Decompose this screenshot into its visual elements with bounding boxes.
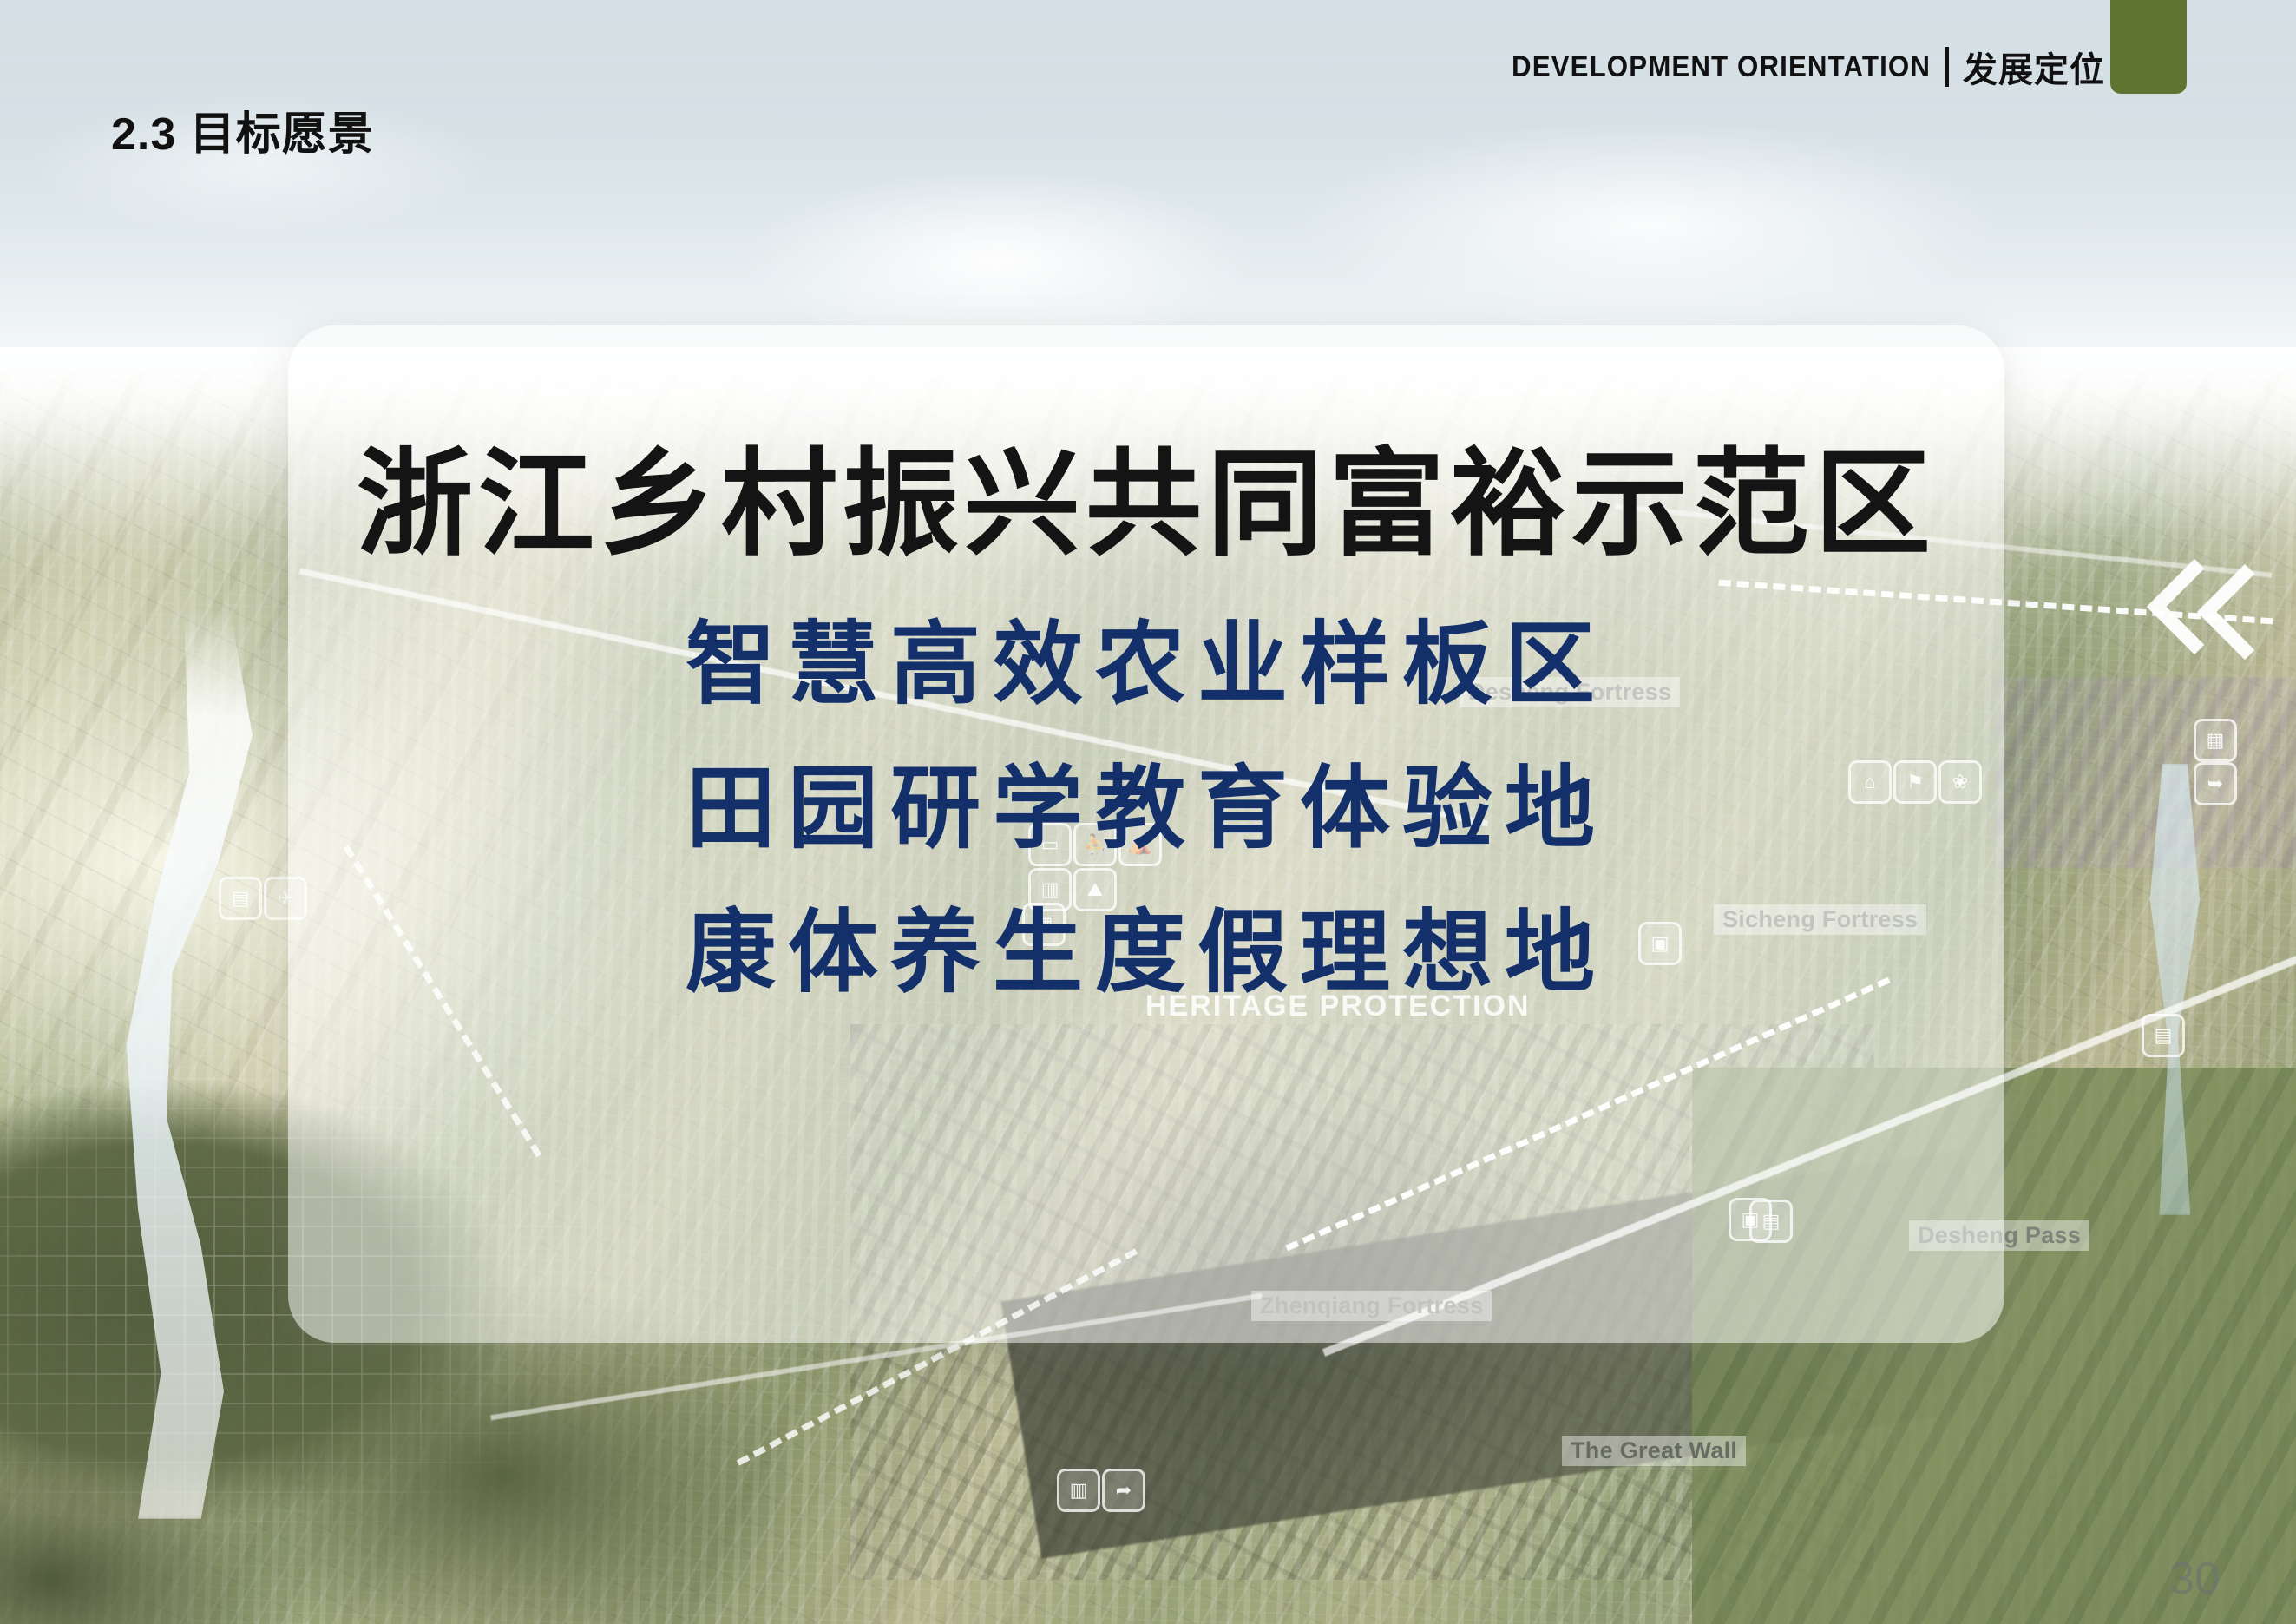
map-facility-icon: ▦	[2194, 719, 2237, 762]
map-facility-icon: ➦	[1102, 1469, 1145, 1512]
map-facility-icon: ▤	[219, 877, 262, 920]
eyebrow-chinese-label: 发展定位	[1963, 42, 2105, 92]
vision-card-content: 浙江乡村振兴共同富裕示范区 智慧高效农业样板区 田园研学教育体验地 康体养生度假…	[288, 325, 2004, 1343]
vision-subtitle-2: 田园研学教育体验地	[686, 765, 1607, 855]
page-title: 2.3 目标愿景	[111, 97, 374, 162]
vision-subtitle-3: 康体养生度假理想地	[686, 909, 1607, 999]
flower-fields-region	[1996, 677, 2296, 868]
map-facility-icon: ▥	[1057, 1469, 1100, 1512]
eyebrow-english-label: DEVELOPMENT ORIENTATION	[1512, 50, 1931, 84]
green-accent-tab	[2110, 0, 2187, 94]
map-label-great-wall: The Great Wall	[1562, 1436, 1746, 1466]
vision-card: 浙江乡村振兴共同富裕示范区 智慧高效农业样板区 田园研学教育体验地 康体养生度假…	[288, 325, 2004, 1343]
map-facility-icon: ➥	[2194, 762, 2237, 805]
vision-subtitle-1: 智慧高效农业样板区	[686, 621, 1607, 711]
vision-headline: 浙江乡村振兴共同富裕示范区	[357, 447, 1936, 563]
eyebrow-divider	[1945, 47, 1949, 87]
page-number: 30	[2169, 1553, 2220, 1605]
slide-root: ▤ ✈ ▭ ⛹ ⛺ ▥ ⛰ ▦ ⌂ ⚑ ❀ ▣ ▤ ▥ ➦ ▦ ➥ ▤ ▣ De…	[0, 0, 2296, 1624]
map-facility-icon: ▤	[2142, 1014, 2185, 1057]
header-eyebrow: DEVELOPMENT ORIENTATION 发展定位	[1475, 42, 2105, 92]
